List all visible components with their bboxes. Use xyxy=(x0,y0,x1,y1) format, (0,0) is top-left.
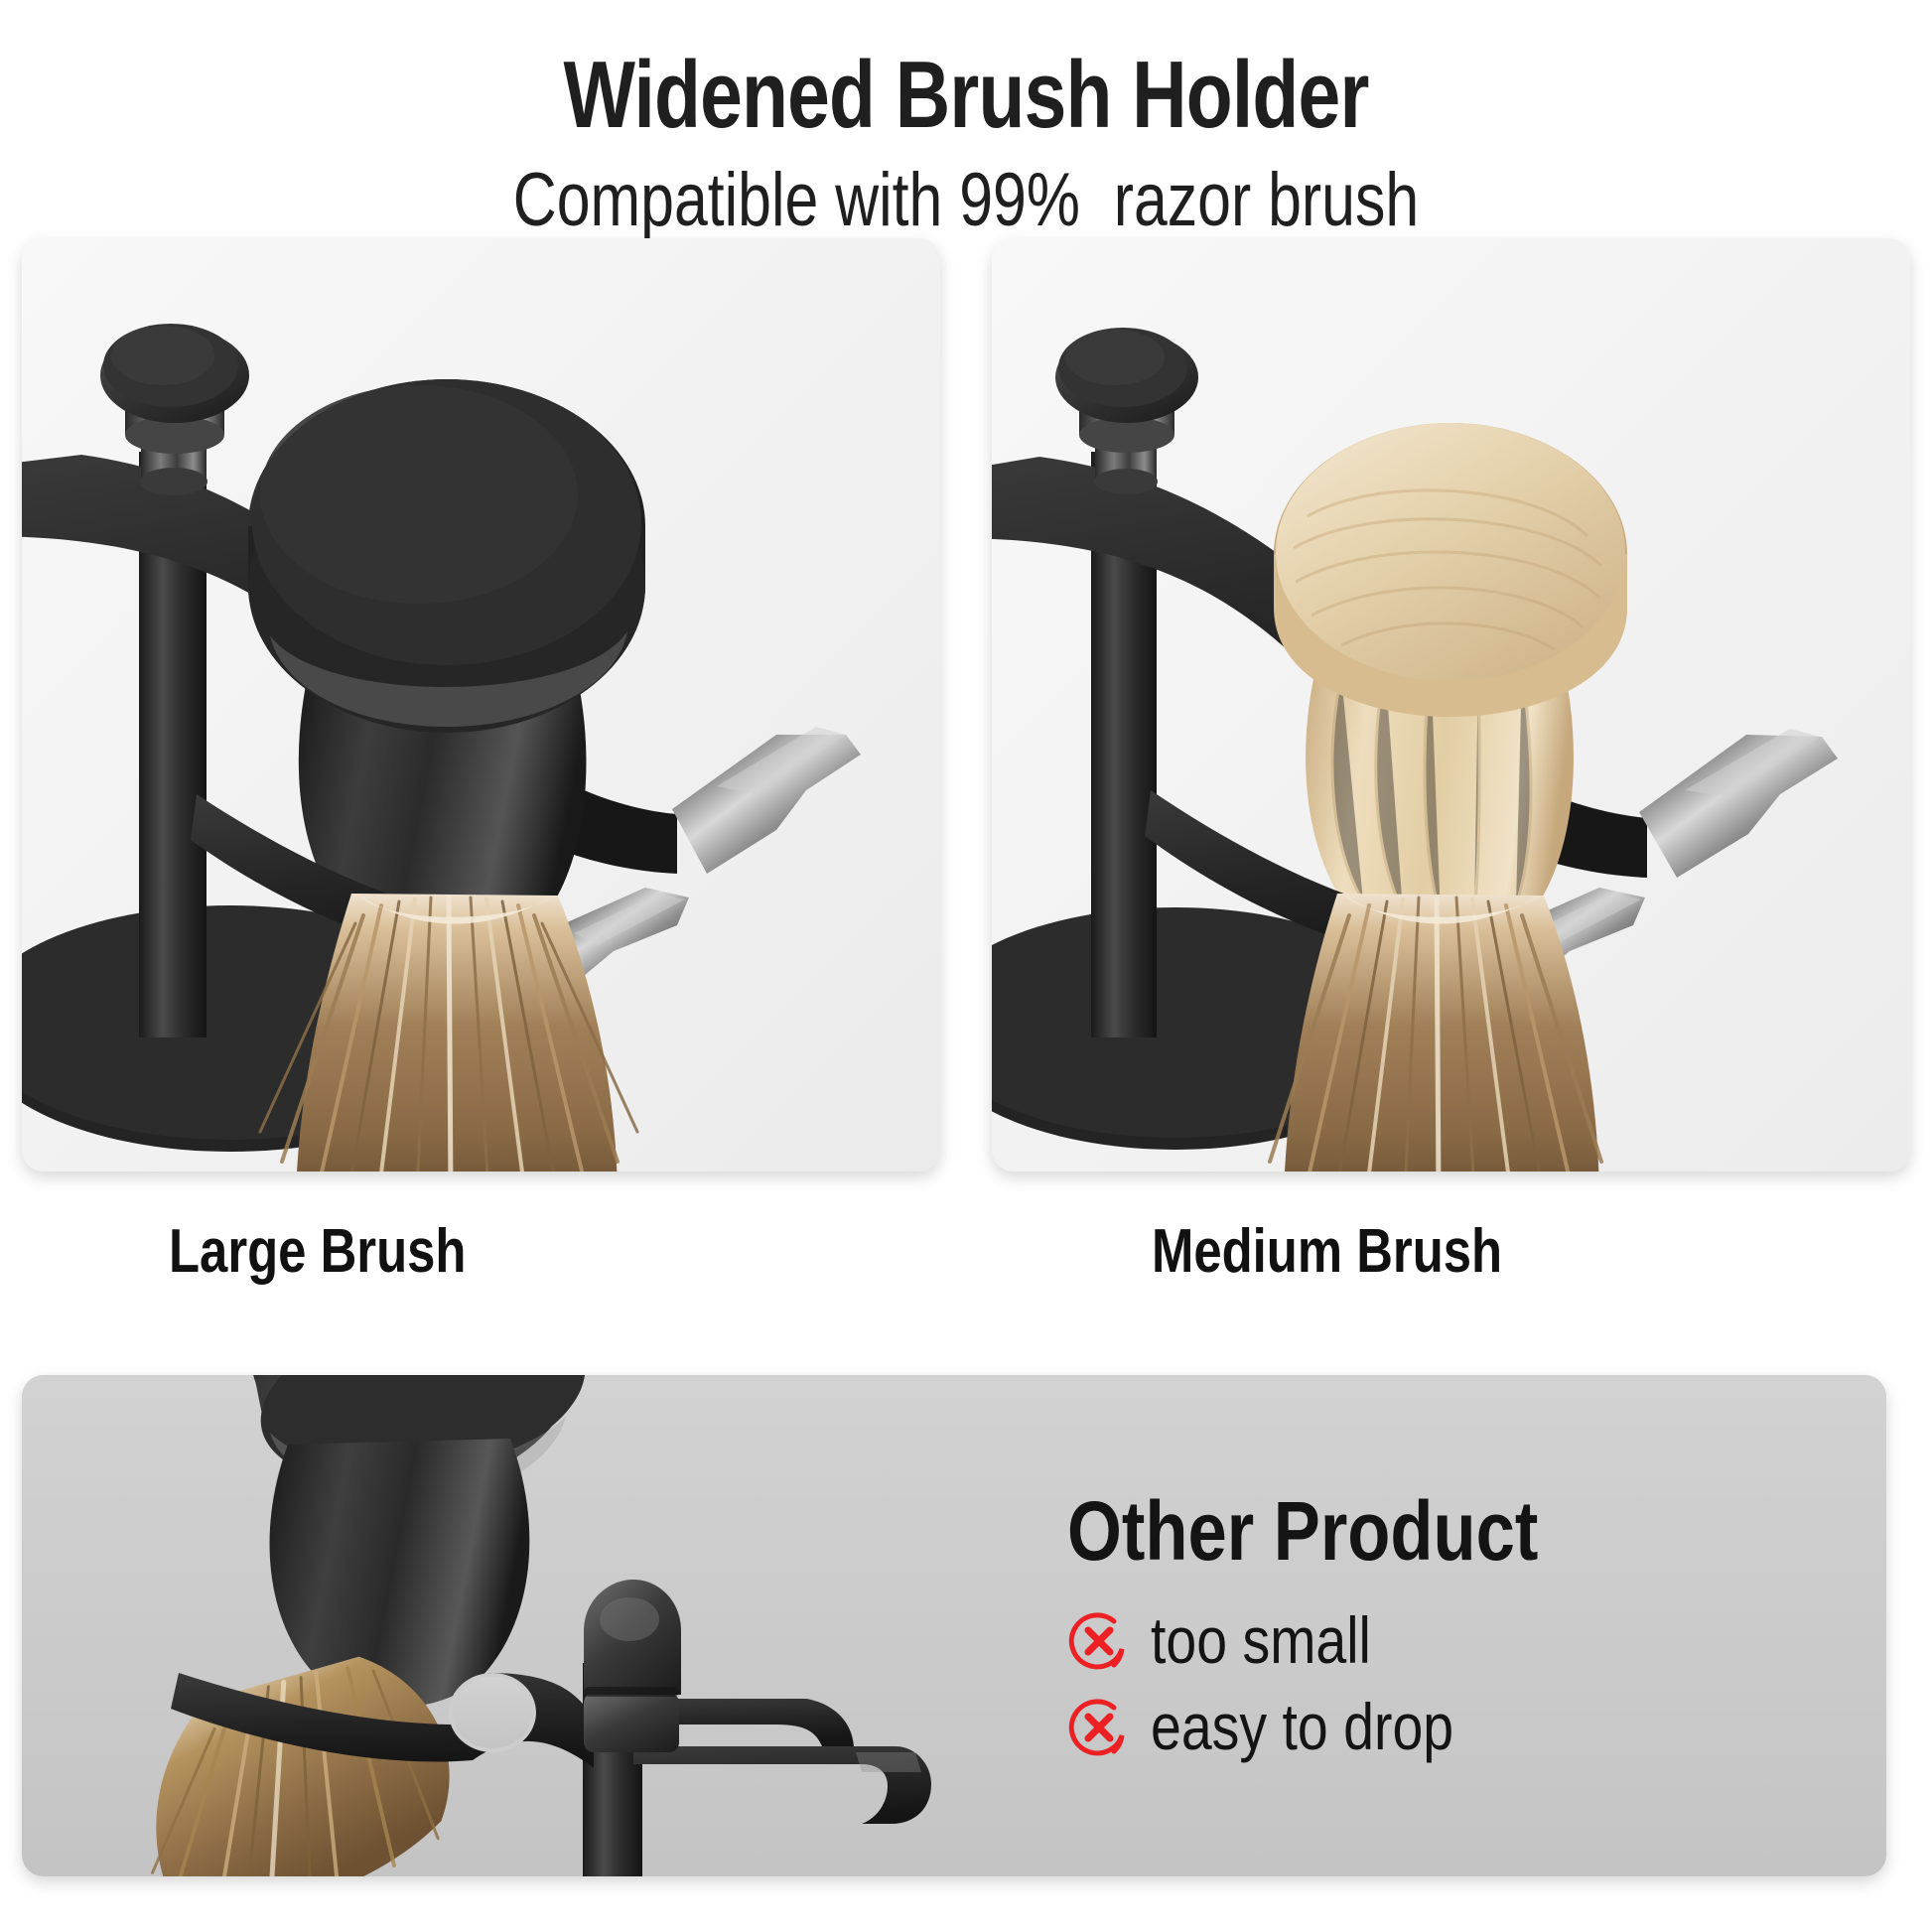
drawback-item: easy to drop xyxy=(1067,1693,1852,1761)
drawback-item: too small xyxy=(1067,1606,1852,1675)
page-subtitle: Compatible with 99% razor brush xyxy=(194,159,1739,242)
caption-large-brush: Large Brush xyxy=(169,1216,466,1287)
caption-medium-brush: Medium Brush xyxy=(1152,1216,1502,1287)
large-brush-illustration xyxy=(22,238,940,1172)
medium-brush-illustration xyxy=(992,238,1910,1172)
drawback-label: too small xyxy=(1151,1606,1371,1675)
circle-x-icon xyxy=(1067,1696,1131,1759)
header: Widened Brush Holder Compatible with 99%… xyxy=(0,0,1932,241)
page-title: Widened Brush Holder xyxy=(194,44,1739,147)
panel-medium-brush xyxy=(992,238,1910,1172)
other-product-text-block: Other Product too small easy to drop xyxy=(1067,1489,1852,1762)
other-product-title: Other Product xyxy=(1067,1489,1726,1573)
panel-large-brush xyxy=(22,238,940,1172)
drawback-label: easy to drop xyxy=(1151,1693,1453,1761)
product-infographic: Widened Brush Holder Compatible with 99%… xyxy=(0,0,1932,1932)
circle-x-icon xyxy=(1067,1609,1131,1673)
